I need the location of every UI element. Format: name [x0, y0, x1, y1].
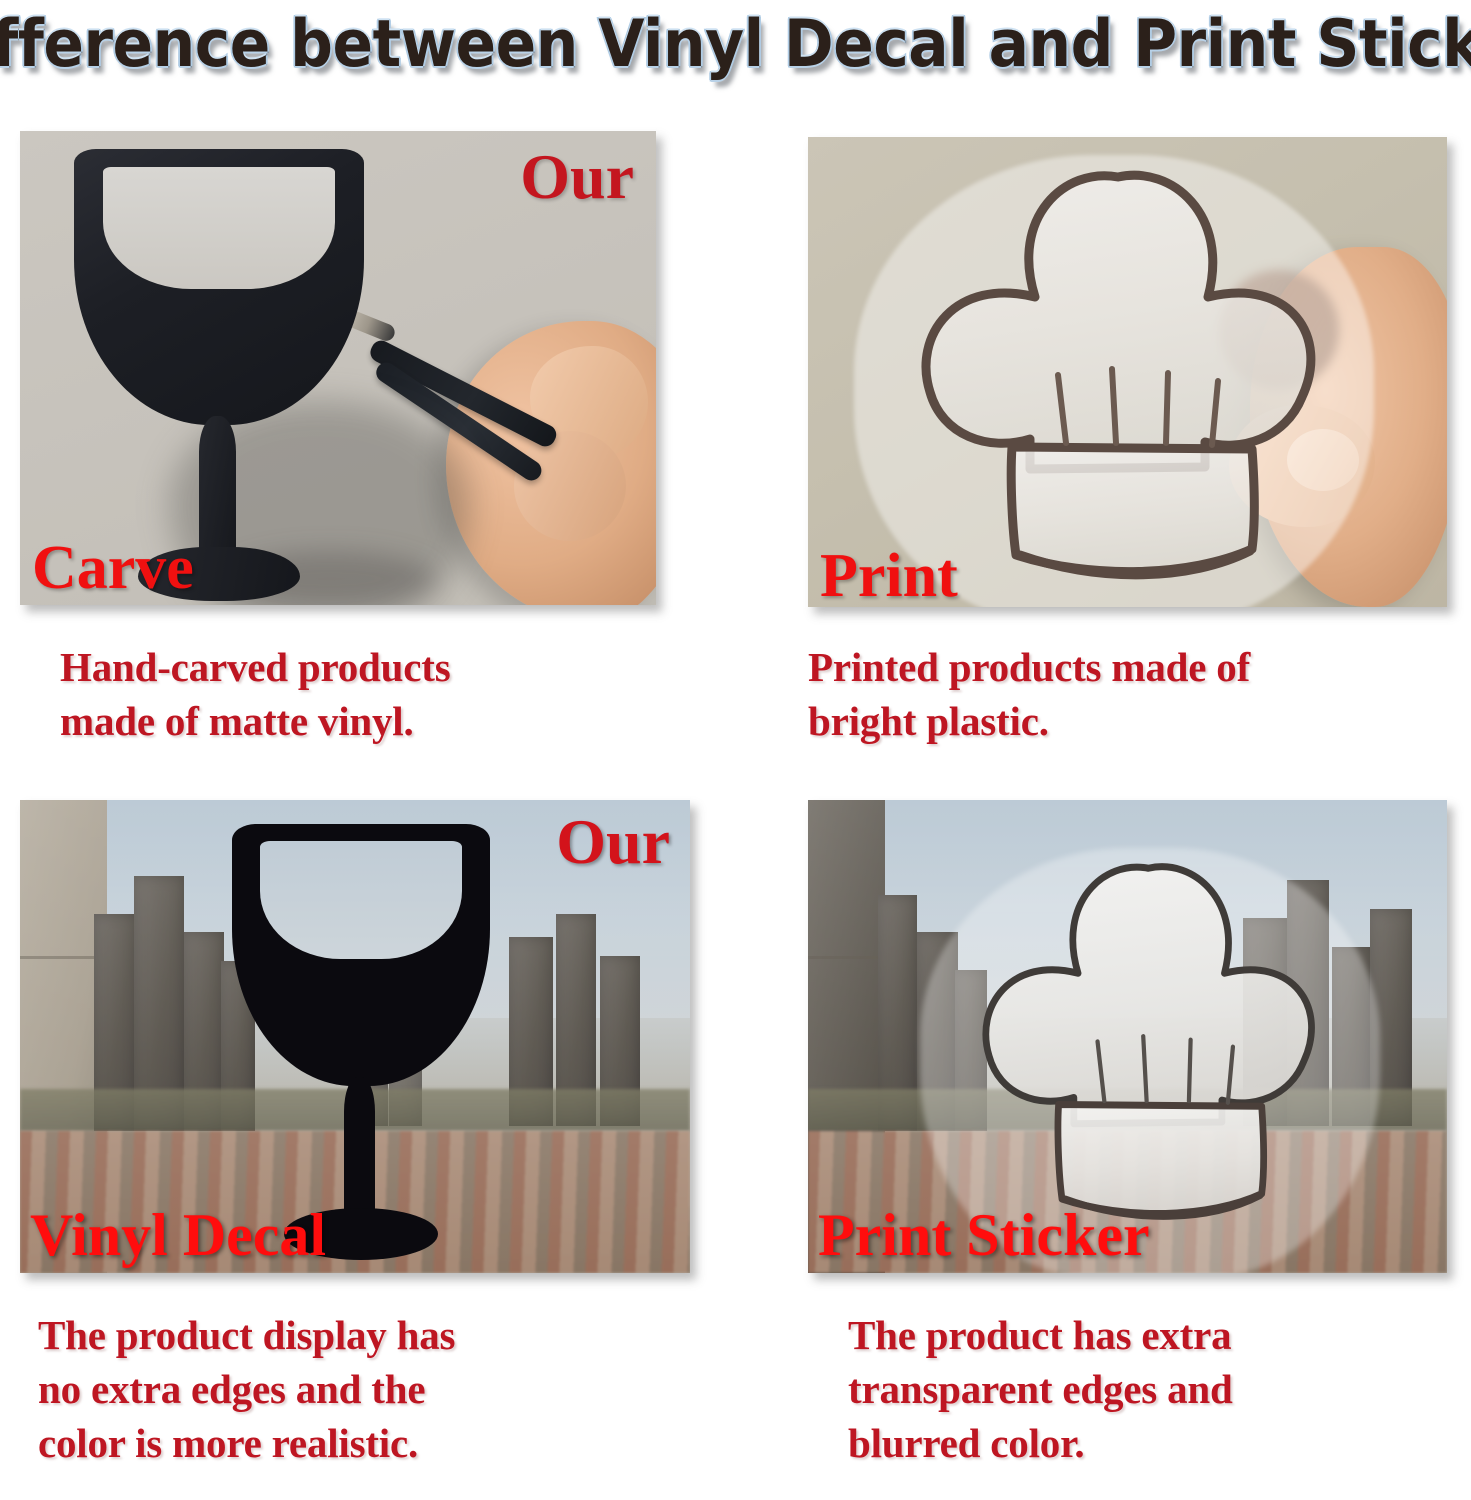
wine-glass-decal-on-window: [232, 824, 490, 1260]
hat-band: [1058, 1105, 1264, 1214]
photo-panel-print: Print: [808, 137, 1447, 607]
page-title: Difference between Vinyl Decal and Print…: [0, 6, 1471, 84]
photo-panel-vinyl-decal: Our Vinyl Decal: [20, 800, 690, 1273]
caption-print-sticker-line-1: The product has extra: [848, 1308, 1468, 1362]
chef-hat-svg: [860, 147, 1380, 607]
caption-vinyl-line-1: The product display has: [38, 1308, 678, 1362]
decal-stem: [199, 416, 237, 565]
label-carve: Carve: [32, 537, 194, 599]
decal-bowl-void: [103, 167, 335, 289]
chef-hat-print-sticker-on-window: [930, 842, 1370, 1262]
caption-print: Printed products made of bright plastic.: [808, 640, 1468, 748]
label-print: Print: [820, 545, 958, 607]
caption-vinyl-line-3: color is more realistic.: [38, 1416, 678, 1470]
hat-band: [1011, 447, 1254, 572]
caption-vinyl-line-2: no extra edges and the: [38, 1362, 678, 1416]
chef-hat-print-sticker: [860, 147, 1380, 607]
decal-bowl-void: [260, 841, 461, 959]
chef-hat-svg: [930, 842, 1370, 1262]
caption-print-line-1: Printed products made of: [808, 640, 1468, 694]
header-banner: Difference between Vinyl Decal and Print…: [0, 0, 1471, 100]
caption-print-line-2: bright plastic.: [808, 694, 1468, 748]
label-print-sticker: Print Sticker: [818, 1205, 1150, 1265]
label-our: Our: [520, 145, 634, 209]
caption-print-sticker-line-3: blurred color.: [848, 1416, 1468, 1470]
caption-vinyl-decal: The product display has no extra edges a…: [38, 1308, 678, 1470]
caption-carve-line-1: Hand-carved products: [60, 640, 680, 694]
hat-crown: [986, 867, 1312, 1124]
finger-lower: [514, 431, 626, 541]
hat-crown: [926, 175, 1311, 469]
caption-carve: Hand-carved products made of matte vinyl…: [60, 640, 680, 748]
caption-print-sticker-line-2: transparent edges and: [848, 1362, 1468, 1416]
decal-stem: [344, 1077, 375, 1221]
caption-print-sticker: The product has extra transparent edges …: [848, 1308, 1468, 1470]
caption-carve-line-2: made of matte vinyl.: [60, 694, 680, 748]
label-vinyl-decal: Vinyl Decal: [30, 1205, 326, 1265]
label-our: Our: [556, 810, 670, 874]
photo-panel-carve: Our Carve: [20, 131, 656, 605]
photo-panel-print-sticker: Print Sticker: [808, 800, 1447, 1273]
